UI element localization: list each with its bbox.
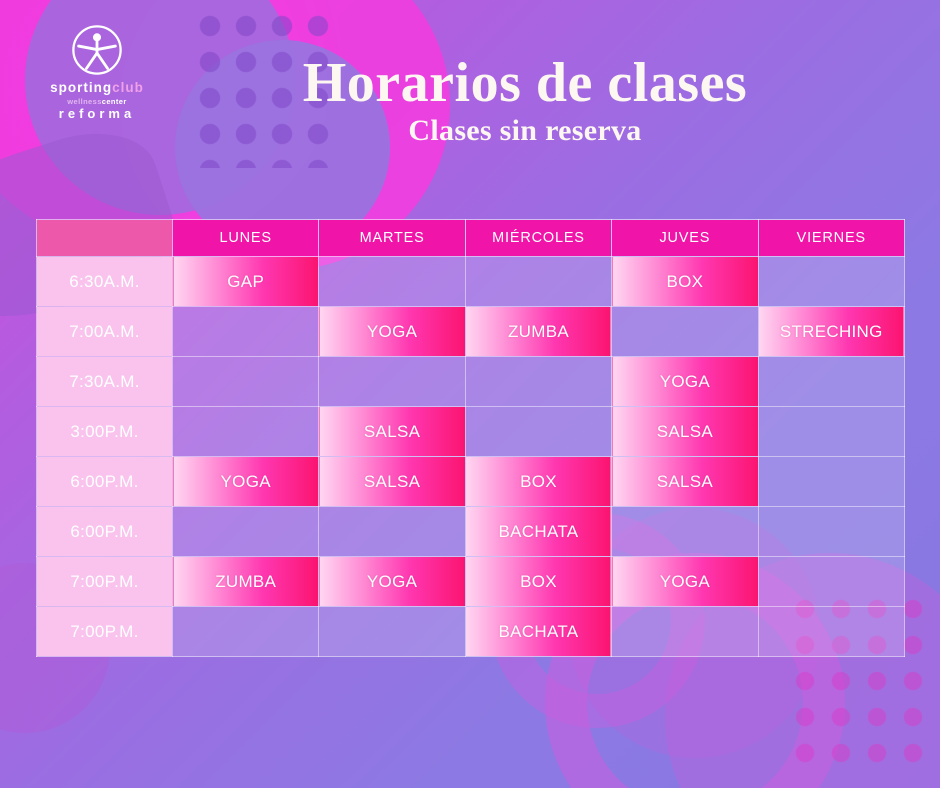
empty-slot-cell — [758, 557, 904, 607]
brand-logo: sportingclub wellnesscenter reforma — [42, 22, 152, 137]
class-cell[interactable]: SALSA — [319, 457, 465, 507]
empty-slot-cell — [319, 257, 465, 307]
empty-slot-cell — [758, 507, 904, 557]
table-corner-cell — [37, 220, 173, 257]
empty-slot-cell — [173, 507, 319, 557]
table-header-day-miércoles: MIÉRCOLES — [465, 220, 611, 257]
empty-slot-cell — [758, 407, 904, 457]
empty-slot-cell — [173, 357, 319, 407]
table-body: 6:30A.M.GAPBOX7:00A.M.YOGAZUMBASTRECHING… — [37, 257, 905, 657]
table-header-day-viernes: VIERNES — [758, 220, 904, 257]
class-cell[interactable]: SALSA — [612, 407, 758, 457]
brand-name-primary: sportingclub — [50, 80, 144, 96]
class-cell[interactable]: BOX — [465, 557, 611, 607]
class-cell[interactable]: GAP — [173, 257, 319, 307]
time-label: 7:00A.M. — [37, 307, 173, 357]
empty-slot-cell — [758, 357, 904, 407]
brand-word-center: center — [102, 97, 127, 106]
class-cell[interactable]: YOGA — [319, 307, 465, 357]
brand-word-club: club — [112, 80, 144, 95]
class-cell[interactable]: BOX — [612, 257, 758, 307]
time-label: 6:30A.M. — [37, 257, 173, 307]
table-row: 6:00P.M.BACHATA — [37, 507, 905, 557]
poster-header: sportingclub wellnesscenter reforma Hora… — [0, 0, 940, 215]
empty-slot-cell — [319, 357, 465, 407]
empty-slot-cell — [173, 407, 319, 457]
brand-word-sporting: sporting — [50, 80, 112, 95]
table-row: 7:00P.M.BACHATA — [37, 607, 905, 657]
time-label: 3:00P.M. — [37, 407, 173, 457]
table-header-day-lunes: LUNES — [173, 220, 319, 257]
table-row: 7:30A.M.YOGA — [37, 357, 905, 407]
page-subtitle: Clases sin reserva — [175, 114, 875, 148]
class-schedule-table: LUNESMARTESMIÉRCOLESJUVESVIERNES 6:30A.M… — [36, 219, 905, 657]
class-cell[interactable]: YOGA — [612, 357, 758, 407]
empty-slot-cell — [758, 607, 904, 657]
class-cell[interactable]: YOGA — [173, 457, 319, 507]
table-header-day-martes: MARTES — [319, 220, 465, 257]
class-cell[interactable]: BACHATA — [465, 507, 611, 557]
table-header-row-group: LUNESMARTESMIÉRCOLESJUVESVIERNES — [37, 220, 905, 257]
empty-slot-cell — [612, 607, 758, 657]
table-header-row: LUNESMARTESMIÉRCOLESJUVESVIERNES — [37, 220, 905, 257]
empty-slot-cell — [465, 257, 611, 307]
empty-slot-cell — [612, 307, 758, 357]
class-cell[interactable]: BOX — [465, 457, 611, 507]
empty-slot-cell — [465, 357, 611, 407]
time-label: 7:00P.M. — [37, 607, 173, 657]
empty-slot-cell — [173, 307, 319, 357]
empty-slot-cell — [465, 407, 611, 457]
page-title: Horarios de clases — [175, 55, 875, 112]
table-row: 3:00P.M.SALSASALSA — [37, 407, 905, 457]
table-row: 7:00P.M.ZUMBAYOGABOXYOGA — [37, 557, 905, 607]
class-cell[interactable]: STRECHING — [758, 307, 904, 357]
table-row: 6:00P.M.YOGASALSABOXSALSA — [37, 457, 905, 507]
table-row: 6:30A.M.GAPBOX — [37, 257, 905, 307]
empty-slot-cell — [758, 257, 904, 307]
table-header-day-juves: JUVES — [612, 220, 758, 257]
time-label: 6:00P.M. — [37, 507, 173, 557]
class-cell[interactable]: BACHATA — [465, 607, 611, 657]
brand-name-secondary: wellnesscenter — [67, 98, 126, 107]
class-cell[interactable]: SALSA — [612, 457, 758, 507]
brand-word-wellness: wellness — [67, 97, 101, 106]
empty-slot-cell — [758, 457, 904, 507]
empty-slot-cell — [319, 507, 465, 557]
title-block: Horarios de clases Clases sin reserva — [175, 55, 875, 148]
empty-slot-cell — [173, 607, 319, 657]
brand-location: reforma — [59, 107, 135, 122]
vitruvian-figure-icon — [69, 22, 125, 78]
time-label: 7:00P.M. — [37, 557, 173, 607]
empty-slot-cell — [612, 507, 758, 557]
class-cell[interactable]: YOGA — [612, 557, 758, 607]
table-row: 7:00A.M.YOGAZUMBASTRECHING — [37, 307, 905, 357]
empty-slot-cell — [319, 607, 465, 657]
class-cell[interactable]: SALSA — [319, 407, 465, 457]
time-label: 6:00P.M. — [37, 457, 173, 507]
time-label: 7:30A.M. — [37, 357, 173, 407]
class-cell[interactable]: ZUMBA — [465, 307, 611, 357]
class-cell[interactable]: YOGA — [319, 557, 465, 607]
class-cell[interactable]: ZUMBA — [173, 557, 319, 607]
